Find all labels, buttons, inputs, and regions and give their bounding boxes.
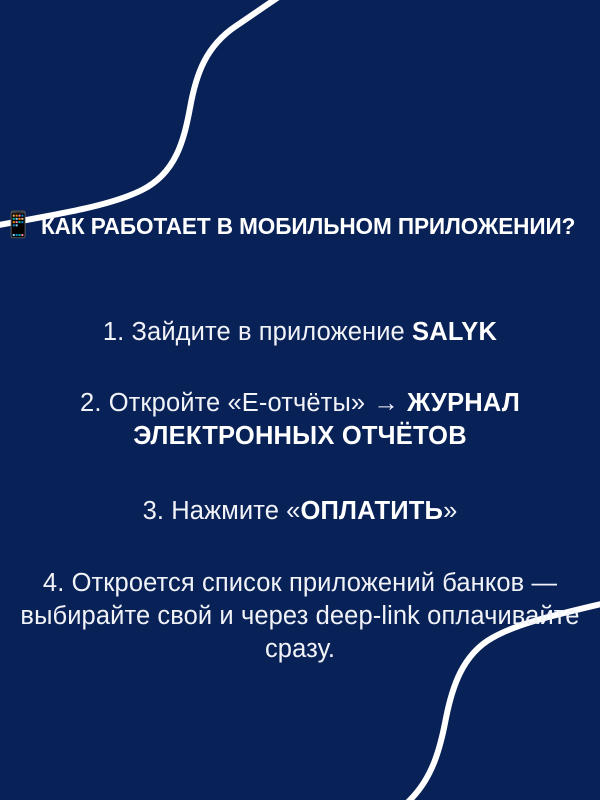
step-number: 3.: [143, 497, 164, 525]
page-title-text: КАК РАБОТАЕТ В МОБИЛЬНОМ ПРИЛОЖЕНИИ?: [41, 214, 575, 240]
arrow-right-icon: →: [372, 389, 400, 417]
slide-canvas: 📱 КАК РАБОТАЕТ В МОБИЛЬНОМ ПРИЛОЖЕНИИ? 1…: [0, 0, 600, 800]
list-item: 1. Зайдите в приложение SALYK: [0, 316, 600, 349]
list-item: 2. Откройте «Е-отчёты» → ЖУРНАЛ ЭЛЕКТРОН…: [0, 387, 600, 453]
mobile-phone-icon: 📱: [3, 213, 34, 238]
page-title: 📱 КАК РАБОТАЕТ В МОБИЛЬНОМ ПРИЛОЖЕНИИ?: [0, 214, 600, 240]
step-text: Откройте «Е-отчёты»: [109, 389, 365, 417]
list-item: 3. Нажмите «ОПЛАТИТЬ»: [0, 495, 600, 528]
step-text: Зайдите в приложение: [132, 318, 405, 346]
slide-content: 📱 КАК РАБОТАЕТ В МОБИЛЬНОМ ПРИЛОЖЕНИИ? 1…: [0, 0, 600, 800]
step-number: 4.: [43, 569, 64, 597]
step-text-tail: »: [443, 497, 457, 525]
list-item: 4. Откроется список приложений банков — …: [0, 567, 600, 666]
step-emphasis: ОПЛАТИТЬ: [300, 497, 443, 525]
step-number: 2.: [80, 389, 101, 417]
step-emphasis: SALYK: [412, 318, 497, 346]
step-text: Нажмите «: [171, 497, 300, 525]
steps-list: 1. Зайдите в приложение SALYK 2. Откройт…: [0, 300, 600, 666]
step-number: 1.: [103, 318, 124, 346]
step-text: Откроется список приложений банков — выб…: [20, 569, 579, 663]
